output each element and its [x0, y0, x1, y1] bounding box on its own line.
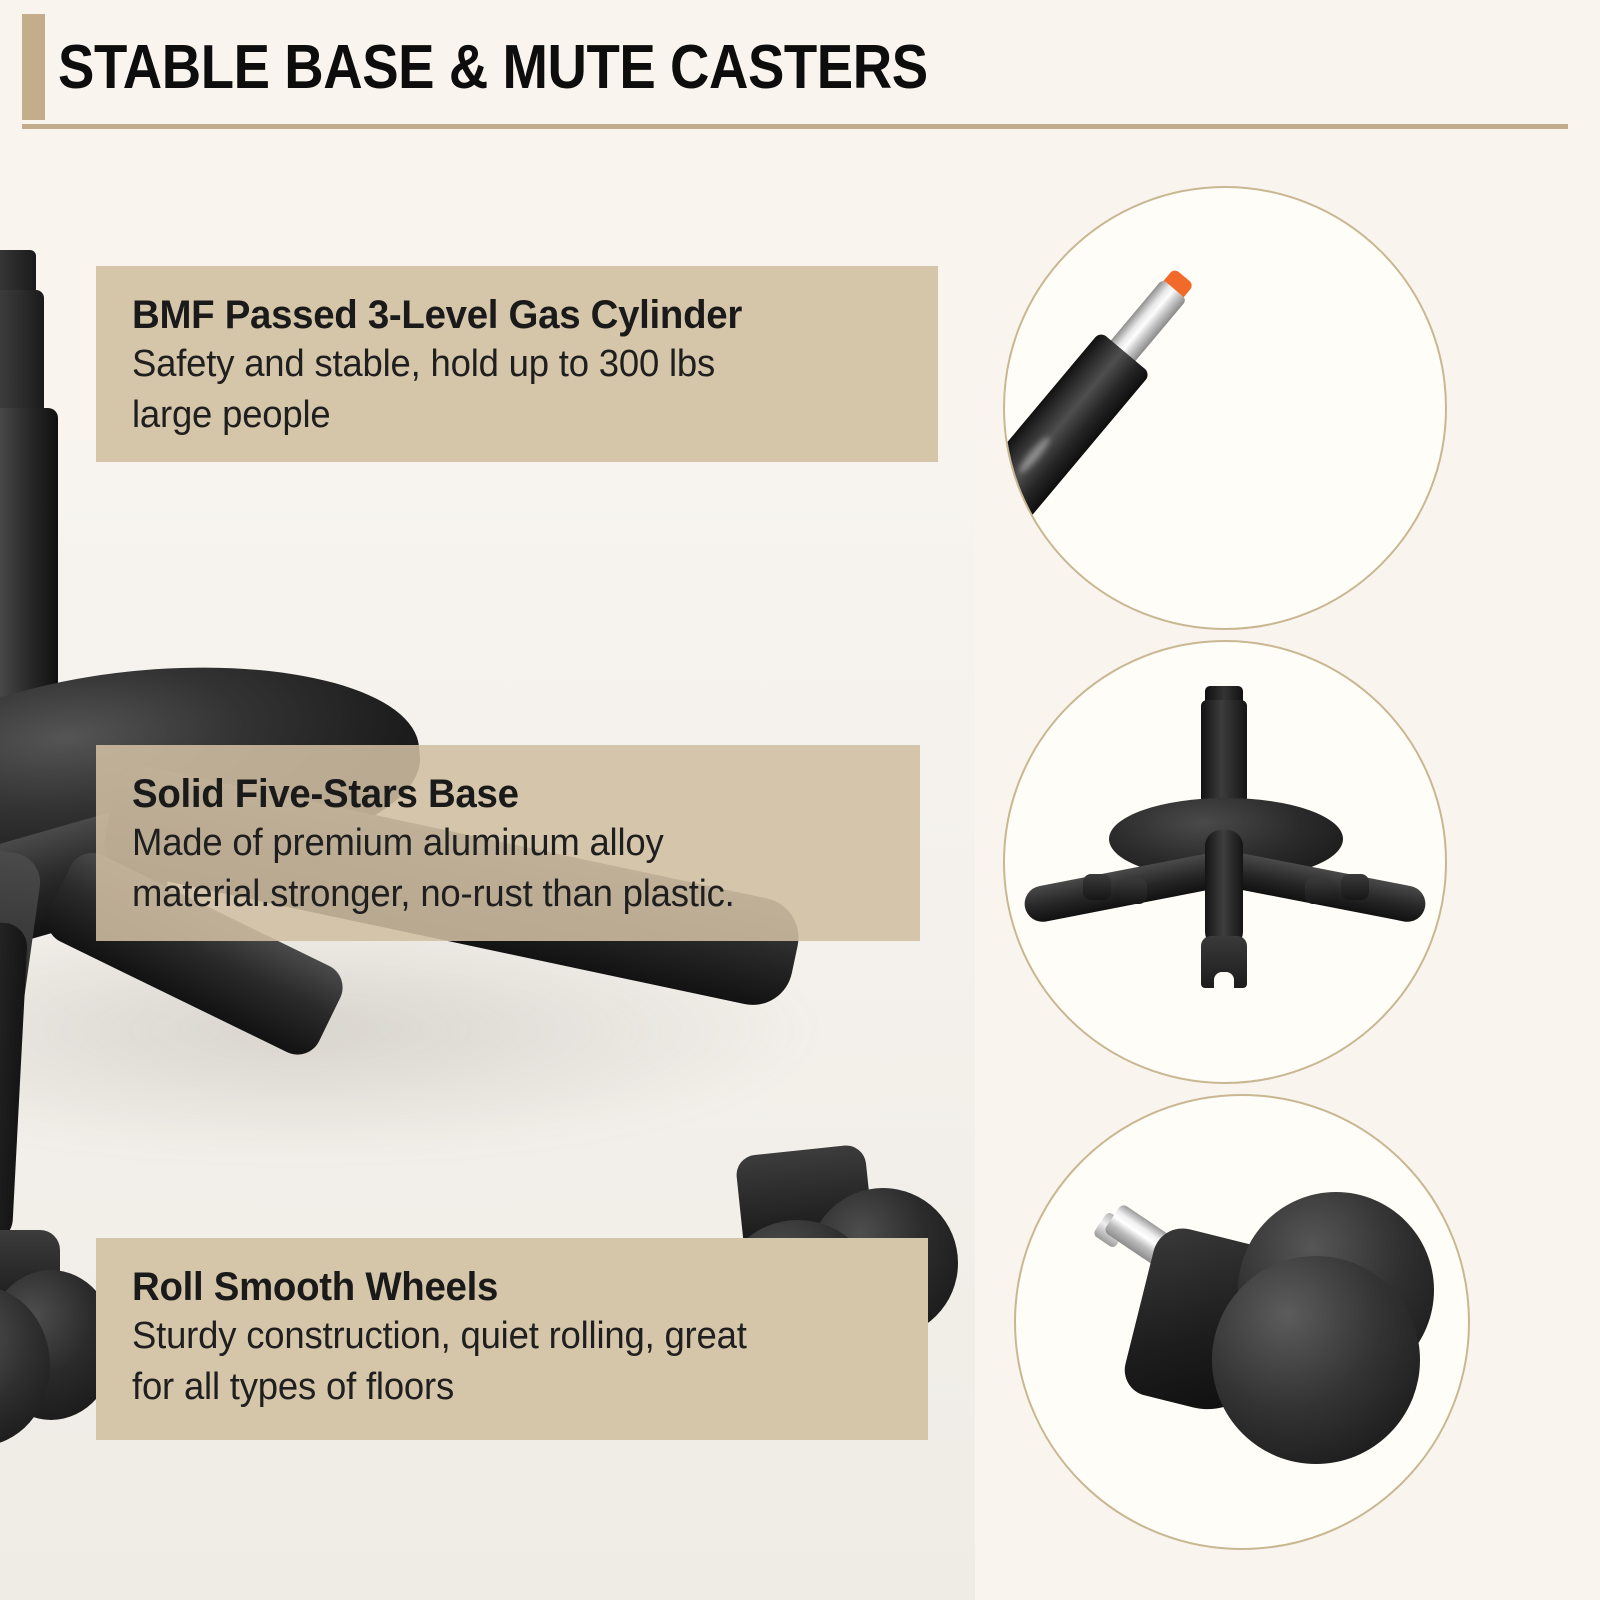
feature-line: Sturdy construction, quiet rolling, grea… — [132, 1311, 867, 1362]
feature-title: BMF Passed 3-Level Gas Cylinder — [132, 292, 877, 339]
inset-caster-wheel-photo — [1014, 1094, 1470, 1550]
cylinder-body — [1003, 331, 1151, 533]
feature-callout-gas-cylinder: BMF Passed 3-Level Gas Cylinder Safety a… — [96, 266, 938, 462]
feature-line: large people — [132, 390, 877, 441]
caster-wheel-center — [1201, 936, 1247, 988]
inset-gas-cylinder-photo — [1003, 186, 1447, 630]
gas-cylinder-column — [0, 408, 58, 708]
caster-socket-right — [1305, 878, 1333, 904]
base-arm-center — [1205, 830, 1243, 948]
feature-title: Solid Five-Stars Base — [132, 771, 860, 818]
feature-callout-smooth-wheels: Roll Smooth Wheels Sturdy construction, … — [96, 1238, 928, 1440]
inset-five-star-base-photo — [1003, 640, 1447, 1084]
caster-socket-left — [1083, 874, 1111, 900]
caster-socket-left-2 — [1119, 878, 1147, 904]
title-accent-bar — [22, 14, 45, 120]
caster-socket-right-2 — [1341, 874, 1369, 900]
gas-cylinder-icon — [1003, 268, 1398, 630]
gas-cylinder-mid — [0, 290, 44, 420]
header-divider — [22, 124, 1568, 129]
feature-callout-five-star-base: Solid Five-Stars Base Made of premium al… — [96, 745, 920, 941]
feature-line: Made of premium aluminum alloy — [132, 818, 860, 869]
feature-line: for all types of floors — [132, 1362, 867, 1413]
feature-line: Safety and stable, hold up to 300 lbs — [132, 339, 877, 390]
caster-wheel-front — [1212, 1256, 1420, 1464]
infographic-stage: STABLE BASE & MUTE CASTERS BMF Passed 3-… — [0, 0, 1600, 1600]
feature-title: Roll Smooth Wheels — [132, 1264, 867, 1311]
page-title: STABLE BASE & MUTE CASTERS — [58, 22, 938, 114]
feature-line: material.stronger, no-rust than plastic. — [132, 869, 860, 920]
